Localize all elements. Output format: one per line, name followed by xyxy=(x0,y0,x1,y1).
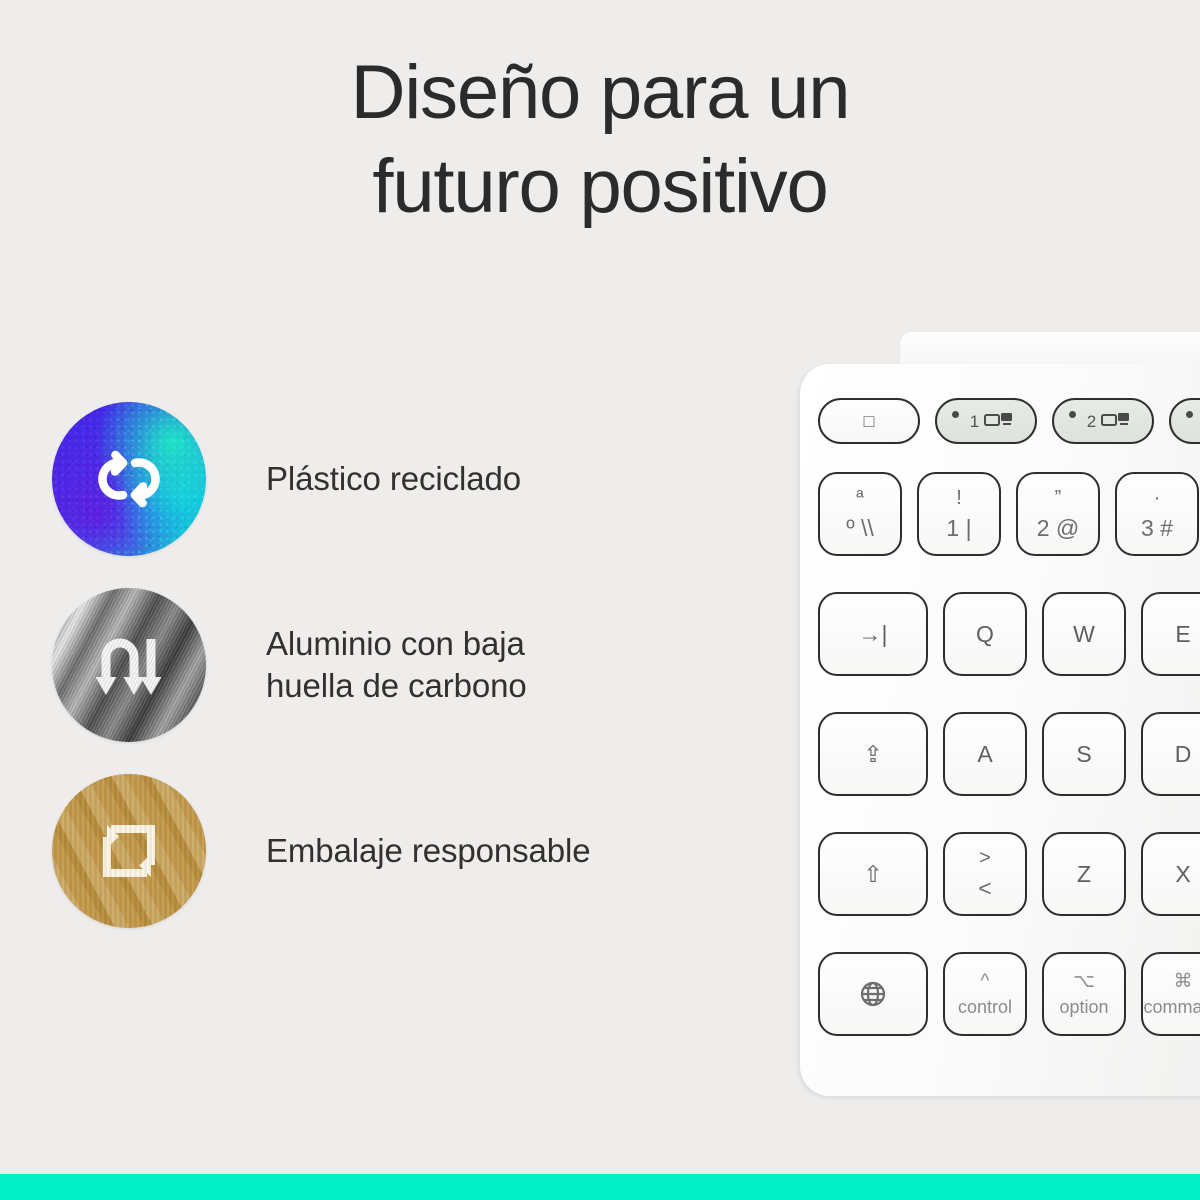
key-easy-switch-1-number: 1 xyxy=(970,413,979,430)
key-option[interactable]: ⌥ option xyxy=(1042,952,1126,1036)
key-w[interactable]: W xyxy=(1042,592,1126,676)
key-q-label: Q xyxy=(976,623,994,646)
key-z[interactable]: Z xyxy=(1042,832,1126,916)
feature-list: Plástico reciclado Aluminio con baja hue… xyxy=(52,386,752,944)
key-escape-label: □ xyxy=(864,412,875,430)
key-control-label: control xyxy=(958,998,1012,1016)
key-easy-switch-2-number: 2 xyxy=(1087,413,1096,430)
key-e-label: E xyxy=(1175,623,1190,646)
key-angle-brackets-top: > xyxy=(979,847,991,869)
key-caps-lock[interactable]: ⇪ xyxy=(818,712,928,796)
aluminium-down-arrows-icon xyxy=(52,588,206,742)
key-caps-lock-label: ⇪ xyxy=(863,743,882,766)
keyboard-row-numbers: ª º \\ ! 1 | ” 2 @ · 3 # xyxy=(818,472,1199,556)
key-2[interactable]: ” 2 @ xyxy=(1016,472,1100,556)
key-command[interactable]: ⌘ command xyxy=(1141,952,1200,1036)
key-s[interactable]: S xyxy=(1042,712,1126,796)
feature-label-responsible-packaging: Embalaje responsable xyxy=(266,830,591,872)
key-3-top: · xyxy=(1154,487,1161,509)
key-control-symbol: ^ xyxy=(981,972,990,991)
easy-switch-3-content: 3 xyxy=(1192,412,1200,430)
keyboard-row-home: ⇪ A S D xyxy=(818,712,1200,796)
key-option-label: option xyxy=(1059,998,1108,1016)
key-e[interactable]: E xyxy=(1141,592,1200,676)
device-switch-icon xyxy=(1101,412,1131,430)
feature-item-responsible-packaging: Embalaje responsable xyxy=(52,758,752,944)
recycle-loop-icon xyxy=(52,402,206,556)
keyboard-row-function: □ 1 2 xyxy=(818,398,1200,444)
key-d-label: D xyxy=(1175,743,1192,766)
feature-item-low-carbon-aluminium: Aluminio con baja huella de carbono xyxy=(52,572,752,758)
feature-label-low-carbon-aluminium: Aluminio con baja huella de carbono xyxy=(266,623,527,707)
key-1-top: ! xyxy=(956,487,962,509)
key-2-bottom: 2 @ xyxy=(1037,515,1080,541)
key-angle-brackets-bottom: < xyxy=(978,875,991,901)
easy-switch-3-dot-icon xyxy=(1186,411,1193,418)
key-angle-brackets[interactable]: > < xyxy=(943,832,1027,916)
easy-switch-2-content: 2 xyxy=(1075,412,1131,430)
key-ordinal[interactable]: ª º \\ xyxy=(818,472,902,556)
page-title: Diseño para un futuro positivo xyxy=(0,46,1200,234)
device-switch-icon xyxy=(984,412,1014,430)
key-command-label: command xyxy=(1143,998,1200,1016)
key-x-label: X xyxy=(1175,863,1190,886)
page-title-line-1: Diseño para un xyxy=(0,46,1200,140)
key-tab[interactable]: →| xyxy=(818,592,928,676)
key-ordinal-top: ª xyxy=(856,487,863,509)
key-globe[interactable] xyxy=(818,952,928,1036)
keyboard-keys: □ 1 2 xyxy=(800,364,1200,1096)
feature-label-recycled-plastic: Plástico reciclado xyxy=(266,458,521,500)
key-z-label: Z xyxy=(1077,863,1091,886)
key-easy-switch-1[interactable]: 1 xyxy=(935,398,1037,444)
key-tab-label: →| xyxy=(859,623,888,646)
easy-switch-1-content: 1 xyxy=(958,412,1014,430)
easy-switch-1-dot-icon xyxy=(952,411,959,418)
easy-switch-2-dot-icon xyxy=(1069,411,1076,418)
key-easy-switch-3[interactable]: 3 xyxy=(1169,398,1200,444)
key-q[interactable]: Q xyxy=(943,592,1027,676)
key-s-label: S xyxy=(1076,743,1091,766)
key-control[interactable]: ^ control xyxy=(943,952,1027,1036)
key-d[interactable]: D xyxy=(1141,712,1200,796)
packaging-loop-icon xyxy=(52,774,206,928)
key-a[interactable]: A xyxy=(943,712,1027,796)
keyboard-row-modifiers: ^ control ⌥ option ⌘ command xyxy=(818,952,1200,1036)
key-2-top: ” xyxy=(1055,487,1062,509)
key-x[interactable]: X xyxy=(1141,832,1200,916)
brand-accent-bar xyxy=(0,1174,1200,1200)
keyboard-row-shift: ⇧ > < Z X xyxy=(818,832,1200,916)
keyboard-product-image: □ 1 2 xyxy=(780,318,1200,1118)
feature-item-recycled-plastic: Plástico reciclado xyxy=(52,386,752,572)
key-easy-switch-2[interactable]: 2 xyxy=(1052,398,1154,444)
key-shift-left[interactable]: ⇧ xyxy=(818,832,928,916)
key-escape[interactable]: □ xyxy=(818,398,920,444)
key-shift-left-label: ⇧ xyxy=(863,863,882,886)
key-option-symbol: ⌥ xyxy=(1073,972,1095,991)
key-3-bottom: 3 # xyxy=(1141,515,1173,541)
globe-icon xyxy=(858,979,888,1009)
key-1[interactable]: ! 1 | xyxy=(917,472,1001,556)
key-3[interactable]: · 3 # xyxy=(1115,472,1199,556)
key-ordinal-bottom: º \\ xyxy=(846,515,874,541)
key-w-label: W xyxy=(1073,623,1095,646)
keyboard-row-qwerty: →| Q W E xyxy=(818,592,1200,676)
key-command-symbol: ⌘ xyxy=(1174,972,1193,991)
key-1-bottom: 1 | xyxy=(946,515,971,541)
page-title-line-2: futuro positivo xyxy=(0,140,1200,234)
key-a-label: A xyxy=(977,743,992,766)
